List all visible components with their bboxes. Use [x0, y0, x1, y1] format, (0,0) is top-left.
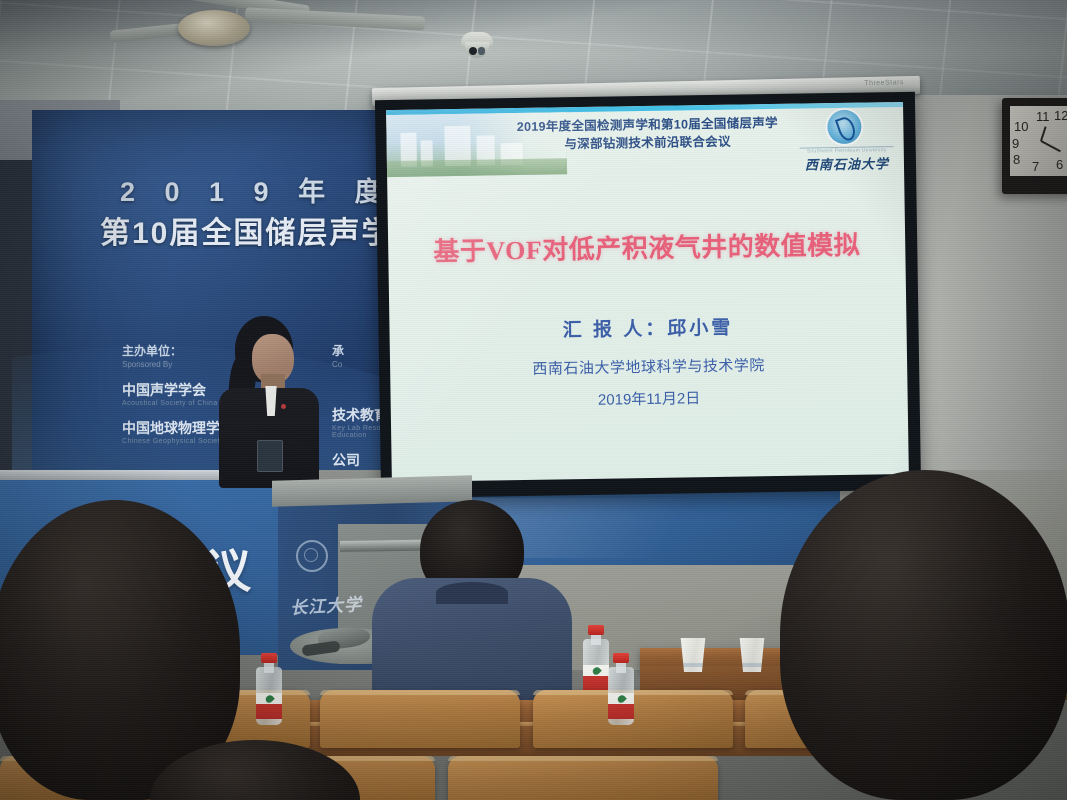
wall-clock: 12 11 10 9 8 7 6: [1002, 98, 1067, 194]
fan-light-hub: [178, 10, 250, 46]
projection-screen: 2019年度全国检测声学和第10届全国储层声学 与深部钻测技术前沿联合会议 So…: [375, 92, 921, 498]
slide-date: 2019年11月2日: [390, 384, 907, 413]
attendee-center: [372, 500, 572, 700]
foreground-head-right: [780, 470, 1067, 800]
slide-header-title: 2019年度全国检测声学和第10届全国储层声学 与深部钻测技术前沿联合会议: [482, 113, 813, 154]
campus-greenery: [387, 158, 567, 177]
university-emblem-icon: [827, 110, 862, 145]
bottle-label-top: [583, 665, 609, 676]
bottle-cap: [261, 653, 277, 663]
presenter-lapel-pin: [281, 404, 286, 409]
university-name-cn: 西南石油大学: [798, 153, 896, 174]
bottle-label: [256, 693, 282, 719]
bottle-label-top: [608, 693, 634, 704]
presenter-person: [205, 316, 330, 488]
attendee-collar: [436, 582, 508, 604]
bottle-label-top: [256, 693, 282, 704]
chair-front[interactable]: [448, 756, 718, 800]
screen-brand-label: ThreeStars: [864, 79, 904, 87]
clock-face: 12 11 10 9 8 7 6: [1010, 106, 1067, 176]
bottle-leaf-icon: [616, 694, 627, 705]
water-bottle: [583, 625, 609, 697]
university-logo: Southwest Petroleum University 西南石油大学: [797, 109, 896, 169]
clock-number: 8: [1013, 152, 1020, 167]
bottle-label: [583, 665, 609, 691]
clock-hour-hand: [1040, 126, 1047, 141]
clock-number: 7: [1032, 159, 1039, 174]
chair-rim: [320, 690, 520, 695]
podium-university-name: 长江大学: [289, 590, 362, 619]
bottle-cap: [588, 625, 604, 635]
water-bottle: [256, 653, 282, 725]
water-bottle: [608, 653, 634, 725]
bottle-leaf-icon: [264, 694, 275, 705]
clock-minute-hand: [1041, 140, 1061, 152]
clock-number: 9: [1012, 136, 1019, 151]
clock-number: 6: [1056, 157, 1063, 172]
security-camera-icon: [457, 32, 497, 58]
slide-main-title: 基于VOF对低产积液气井的数值模拟: [388, 224, 906, 269]
chair-rim: [448, 756, 718, 761]
chair-back[interactable]: [320, 690, 520, 748]
bottle-cap: [613, 653, 629, 663]
ceiling-fan-icon: [120, 0, 360, 60]
clock-number: 12: [1054, 108, 1067, 123]
clock-number: 11: [1036, 109, 1050, 124]
bottle-leaf-icon: [591, 666, 602, 677]
bottle-label: [608, 693, 634, 719]
camera-lens: [469, 47, 477, 55]
conference-photo-scene: 12 11 10 9 8 7 6 2 0 1 9 年 度 全 国 第10届全国储…: [0, 0, 1067, 800]
slide-presenter-name: 汇 报 人：邱小雪: [389, 310, 906, 345]
presentation-slide: 2019年度全国检测声学和第10届全国储层声学 与深部钻测技术前沿联合会议 So…: [386, 102, 909, 482]
presenter-name-badge: [257, 440, 283, 472]
slide-affiliation: 西南石油大学地球科学与技术学院: [390, 352, 907, 381]
podium-emblem-icon: [296, 540, 328, 572]
camera-ir-led: [478, 47, 485, 55]
clock-number: 10: [1014, 119, 1028, 134]
slide-header: 2019年度全国检测声学和第10届全国储层声学 与深部钻测技术前沿联合会议 So…: [386, 107, 904, 177]
